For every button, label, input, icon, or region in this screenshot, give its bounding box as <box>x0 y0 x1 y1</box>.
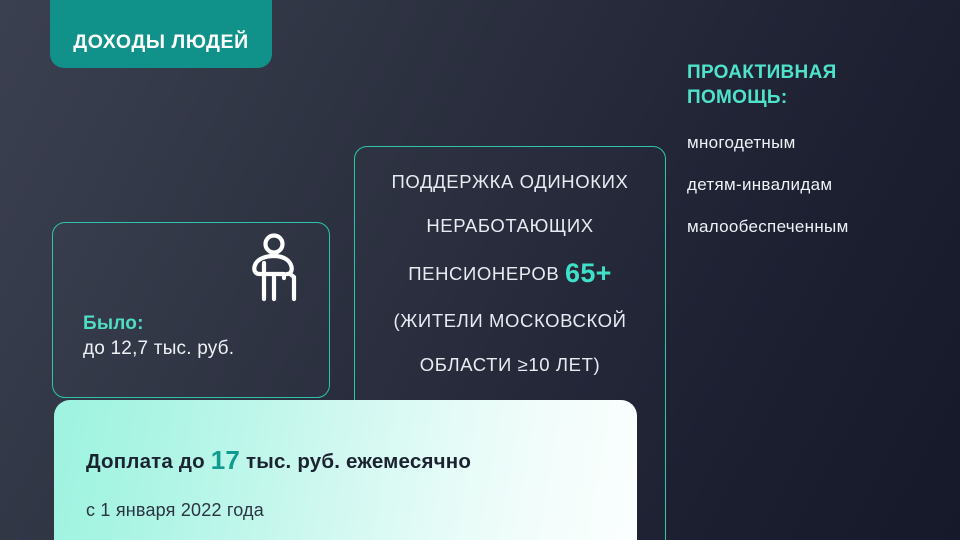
payment-prefix: Доплата до <box>86 450 205 473</box>
proactive-title-line-1: ПРОАКТИВНАЯ <box>687 62 837 83</box>
support-line-pensioners: ПЕНСИОНЕРОВ 65+ <box>365 260 655 287</box>
elderly-person-with-cane-icon <box>243 233 305 307</box>
proactive-item-0: многодетным <box>687 133 949 153</box>
residency-line-2: ОБЛАСТИ ≥10 ЛЕТ) <box>365 356 655 375</box>
pensioners-label: ПЕНСИОНЕРОВ <box>408 263 559 284</box>
residency-line-1: (ЖИТЕЛИ МОСКОВСКОЙ <box>365 312 655 331</box>
support-conditions-text: ПОДДЕРЖКА ОДИНОКИХ НЕРАБОТАЮЩИХ ПЕНСИОНЕ… <box>355 173 665 399</box>
previous-amount-value: до 12,7 тыс. руб. <box>83 336 234 361</box>
proactive-help-title: ПРОАКТИВНАЯ ПОМОЩЬ: <box>687 60 949 111</box>
proactive-item-2: малообеспеченным <box>687 217 949 237</box>
previous-amount-text: Было: до 12,7 тыс. руб. <box>83 311 234 361</box>
header-badge-label: ДОХОДЫ ЛЮДЕЙ <box>73 31 249 54</box>
proactive-help-section: ПРОАКТИВНАЯ ПОМОЩЬ: многодетным детям-ин… <box>687 60 949 259</box>
support-line-1: ПОДДЕРЖКА ОДИНОКИХ <box>365 173 655 192</box>
payment-start-date: с 1 января 2022 года <box>86 500 264 521</box>
slide-canvas: ДОХОДЫ ЛЮДЕЙ Было: до 12,7 тыс. руб. ПОД… <box>0 0 960 540</box>
previous-amount-label: Было: <box>83 311 234 336</box>
header-badge: ДОХОДЫ ЛЮДЕЙ <box>50 0 272 68</box>
payment-suffix: тыс. руб. ежемесячно <box>246 450 471 473</box>
payment-amount: 17 <box>211 445 240 475</box>
support-line-2: НЕРАБОТАЮЩИХ <box>365 217 655 236</box>
proactive-title-line-2: ПОМОЩЬ: <box>687 87 788 108</box>
card-payment-highlight: Доплата до 17 тыс. руб. ежемесячно с 1 я… <box>54 400 637 540</box>
proactive-item-1: детям-инвалидам <box>687 175 949 195</box>
payment-main-text: Доплата до 17 тыс. руб. ежемесячно <box>86 445 471 476</box>
age-threshold-badge: 65+ <box>565 258 612 288</box>
card-previous-amount: Было: до 12,7 тыс. руб. <box>52 222 330 398</box>
